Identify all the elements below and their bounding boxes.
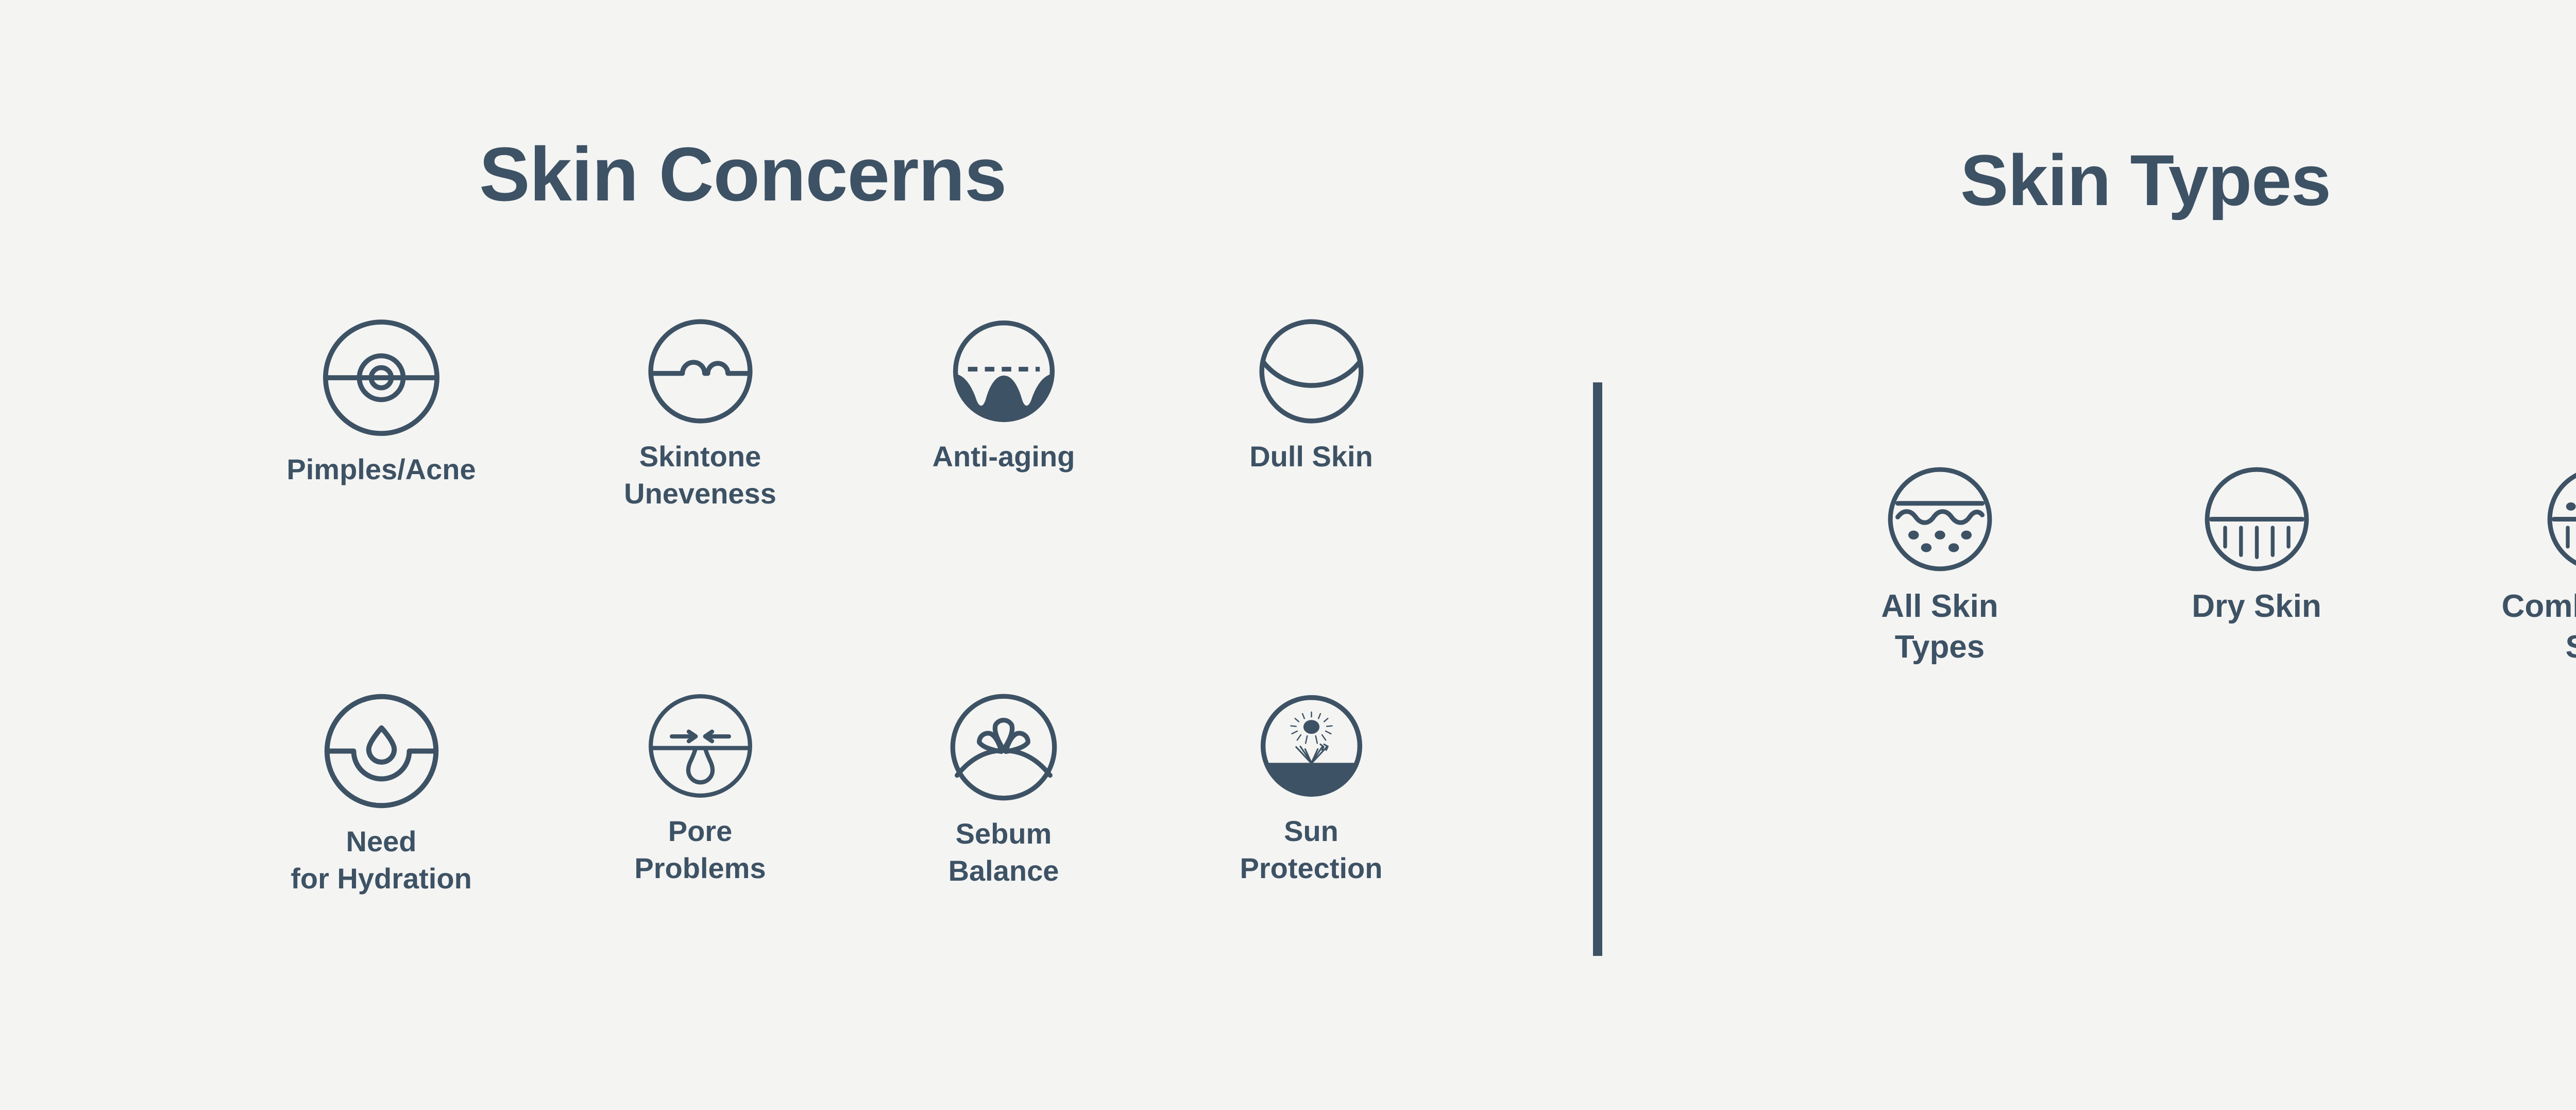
concern-label: Sun Protection (1240, 813, 1383, 886)
concern-item-anti-aging[interactable]: Anti-aging (883, 318, 1125, 475)
concern-item-pimples-acne[interactable]: Pimples/Acne (260, 318, 502, 488)
section-divider (1593, 382, 1602, 956)
concern-label: Anti-aging (933, 438, 1075, 475)
pimples-acne-icon (322, 318, 440, 440)
concern-label: Skintone Uneveness (624, 438, 776, 512)
type-label: All Skin Types (1881, 586, 1998, 668)
concern-label: Sebum Balance (948, 815, 1059, 889)
concern-item-dull-skin[interactable]: Dull Skin (1190, 318, 1432, 475)
concern-item-pore-problems[interactable]: Pore Problems (579, 693, 821, 886)
pore-problems-icon (648, 693, 753, 801)
concern-item-sebum-balance[interactable]: Sebum Balance (883, 693, 1125, 889)
sun-protection-icon (1259, 693, 1364, 801)
skintone-uneveness-icon (648, 318, 753, 427)
concern-label: Pimples/Acne (286, 451, 476, 488)
dull-skin-icon (1259, 318, 1364, 427)
concern-item-sun-protection[interactable]: Sun Protection (1190, 693, 1432, 886)
type-item-dry-skin[interactable]: Dry Skin (2128, 466, 2385, 627)
concern-item-need-for-hydration[interactable]: Need for Hydration (260, 693, 502, 897)
skin-types-heading: Skin Types (1960, 144, 2331, 216)
concern-item-skintone-uneveness[interactable]: Skintone Uneveness (579, 318, 821, 512)
type-item-combination-skin[interactable]: Combination Skin (2470, 466, 2576, 668)
concern-label: Need for Hydration (291, 823, 472, 897)
sebum-balance-icon (950, 693, 1058, 804)
need-for-hydration-icon (324, 693, 439, 812)
skin-concerns-and-types-infographic: Skin Concerns Skin Types Pimples/Acne Sk… (0, 0, 2576, 1110)
combination-skin-icon (2547, 466, 2576, 575)
all-skin-types-icon (1887, 466, 1993, 575)
dry-skin-icon (2204, 466, 2310, 575)
concern-label: Pore Problems (634, 813, 766, 886)
concern-label: Dull Skin (1249, 438, 1373, 475)
type-label: Combination Skin (2502, 586, 2576, 668)
anti-aging-icon (951, 318, 1057, 427)
type-label: Dry Skin (2192, 586, 2321, 627)
type-item-all-skin-types[interactable]: All Skin Types (1811, 466, 2069, 668)
skin-concerns-heading: Skin Concerns (479, 137, 1006, 213)
